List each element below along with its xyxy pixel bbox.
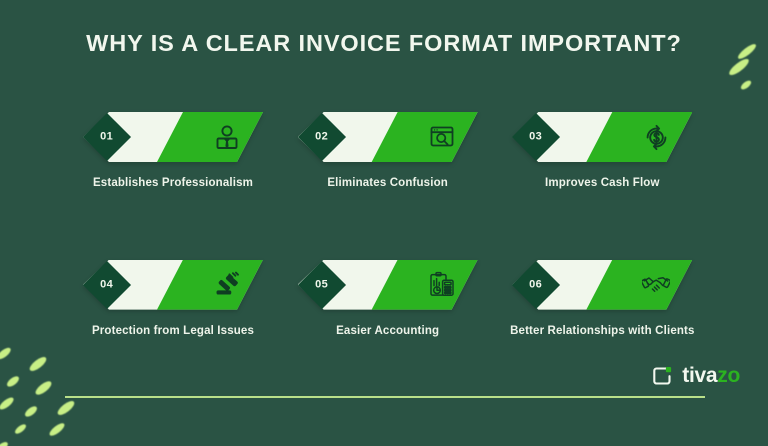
benefit-label-05: Easier Accounting	[336, 323, 439, 340]
benefit-label-06: Better Relationships with Clients	[510, 323, 695, 340]
logo-wordmark: tivazo	[682, 364, 740, 388]
benefit-label-03: Improves Cash Flow	[545, 175, 660, 192]
document-search-icon	[428, 123, 456, 151]
benefit-label-01: Establishes Professionalism	[93, 175, 253, 192]
tivazo-logo[interactable]: tivazo	[650, 364, 740, 388]
benefit-label-02: Eliminates Confusion	[327, 175, 448, 192]
benefit-banner-01: 01	[83, 112, 263, 162]
benefit-item-02[interactable]: 02 Eliminates Confusion	[293, 112, 483, 192]
benefit-item-03[interactable]: 03 Improves Cash Flow	[507, 112, 697, 192]
benefit-banner-05: 05	[298, 260, 478, 310]
page-title: WHY IS A CLEAR INVOICE FORMAT IMPORTANT?	[0, 28, 768, 58]
benefit-number-06: 06	[530, 279, 543, 291]
benefit-label-04: Protection from Legal Issues	[92, 323, 254, 340]
handshake-icon	[642, 271, 670, 299]
clipboard-calculator-icon	[428, 271, 456, 299]
benefit-number-02: 02	[315, 131, 328, 143]
benefit-item-05[interactable]: 05	[293, 260, 483, 340]
logo-text-accent: zo	[717, 364, 740, 387]
benefit-banner-02: 02	[298, 112, 478, 162]
benefit-item-04[interactable]: 04 Protection from Legal Issues	[78, 260, 268, 340]
footer-divider	[65, 396, 705, 398]
gavel-icon	[213, 271, 241, 299]
benefit-number-04: 04	[100, 279, 113, 291]
benefit-banner-06: 06	[512, 260, 692, 310]
businessperson-icon	[213, 123, 241, 151]
benefit-number-03: 03	[530, 131, 543, 143]
slide-canvas: WHY IS A CLEAR INVOICE FORMAT IMPORTANT?…	[0, 0, 768, 446]
benefits-grid: 01 Establishes Professionalism	[78, 112, 698, 339]
benefit-banner-03: 03	[512, 112, 692, 162]
benefit-item-01[interactable]: 01 Establishes Professionalism	[78, 112, 268, 192]
benefit-number-01: 01	[100, 131, 113, 143]
decorative-dashes-bottom-left	[0, 326, 130, 446]
benefit-banner-04: 04	[83, 260, 263, 310]
dollar-refresh-icon	[642, 123, 670, 151]
bracket-square-icon	[650, 364, 674, 388]
benefit-number-05: 05	[315, 279, 328, 291]
benefit-item-06[interactable]: 06 Better Relationshi	[507, 260, 697, 340]
logo-text-primary: tiva	[682, 364, 717, 387]
